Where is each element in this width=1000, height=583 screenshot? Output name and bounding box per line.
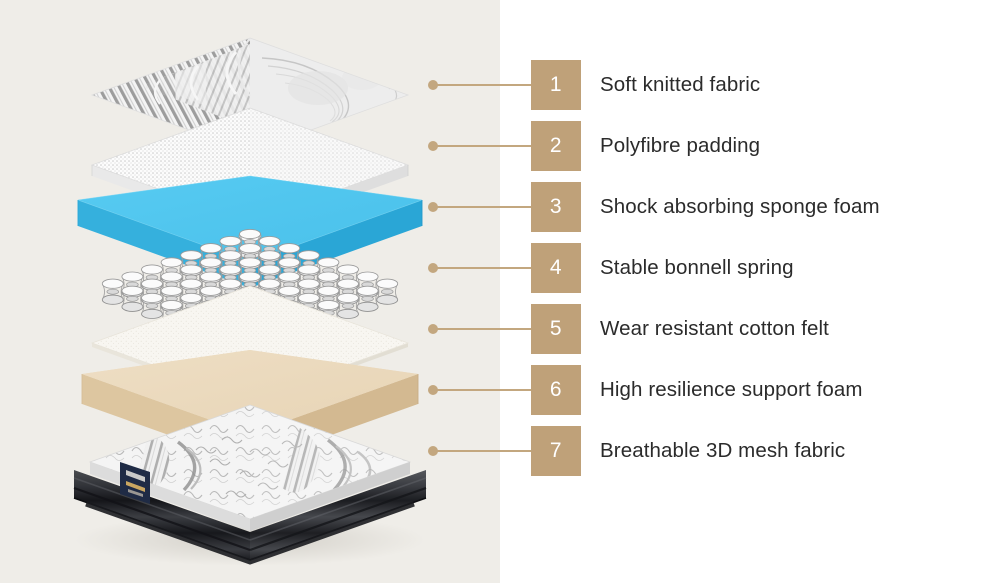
legend-row-7[interactable]: 7 Breathable 3D mesh fabric bbox=[420, 426, 1000, 476]
legend-row-6[interactable]: 6 High resilience support foam bbox=[420, 365, 1000, 415]
legend-number-badge: 1 bbox=[531, 60, 581, 110]
legend-number-badge: 3 bbox=[531, 182, 581, 232]
legend-label: Soft knitted fabric bbox=[600, 60, 760, 110]
legend-number-badge: 7 bbox=[531, 426, 581, 476]
mattress-layer-infographic: 1 Soft knitted fabric 2 Polyfibre paddin… bbox=[0, 0, 1000, 583]
legend-row-4[interactable]: 4 Stable bonnell spring bbox=[420, 243, 1000, 293]
legend-number-badge: 5 bbox=[531, 304, 581, 354]
legend-label: Polyfibre padding bbox=[600, 121, 760, 171]
legend-number-badge: 4 bbox=[531, 243, 581, 293]
legend-label: Stable bonnell spring bbox=[600, 243, 794, 293]
legend-row-3[interactable]: 3 Shock absorbing sponge foam bbox=[420, 182, 1000, 232]
legend-row-2[interactable]: 2 Polyfibre padding bbox=[420, 121, 1000, 171]
legend-label: Breathable 3D mesh fabric bbox=[600, 426, 845, 476]
legend-label: High resilience support foam bbox=[600, 365, 863, 415]
legend-label: Shock absorbing sponge foam bbox=[600, 182, 880, 232]
legend-label: Wear resistant cotton felt bbox=[600, 304, 829, 354]
legend-row-1[interactable]: 1 Soft knitted fabric bbox=[420, 60, 1000, 110]
legend-list: 1 Soft knitted fabric 2 Polyfibre paddin… bbox=[420, 0, 1000, 583]
legend-row-5[interactable]: 5 Wear resistant cotton felt bbox=[420, 304, 1000, 354]
legend-number-badge: 2 bbox=[531, 121, 581, 171]
legend-number-badge: 6 bbox=[531, 365, 581, 415]
